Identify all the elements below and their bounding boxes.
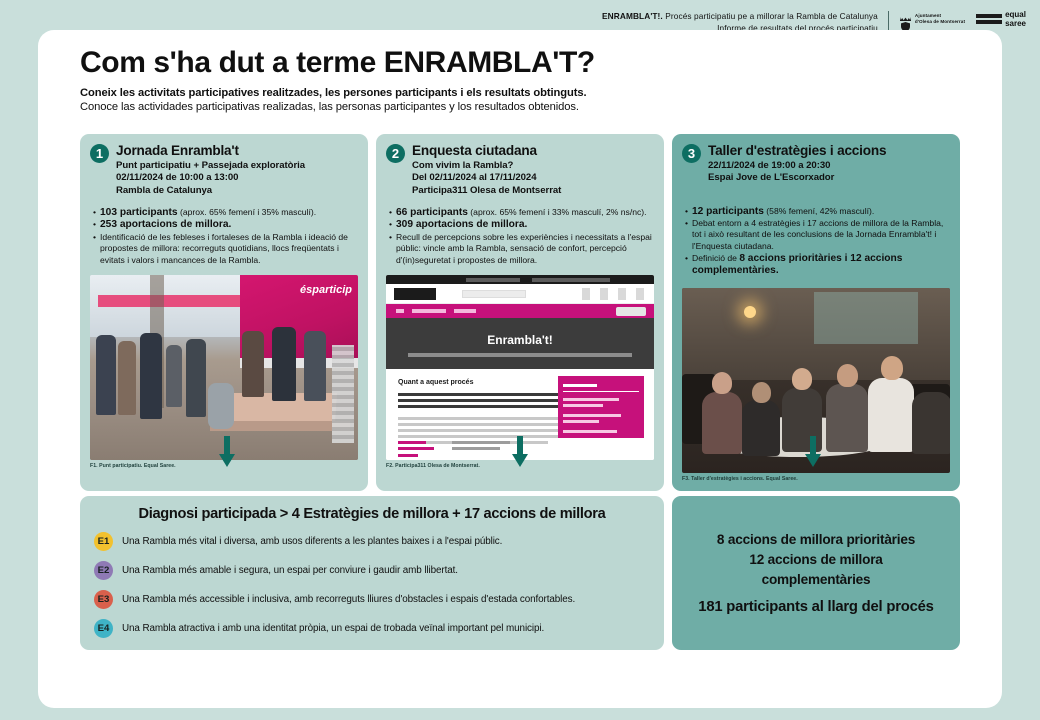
logo-equal-saree: equal saree: [976, 10, 1026, 28]
header-brand: ENRAMBLA'T!.: [602, 11, 663, 21]
list-item: •103 participants (aprox. 65% femení i 3…: [93, 207, 358, 218]
panel-2-b1-strong: 66 participants: [396, 207, 468, 218]
summary-line-1: 8 accions de millora prioritàries: [717, 530, 915, 550]
panel-1-b3-text: Identificació de les febleses i fortales…: [100, 232, 358, 266]
strategy-row-e4: E4 Una Rambla atractiva i amb una identi…: [94, 619, 650, 638]
strategy-badge-e4: E4: [94, 619, 113, 638]
arrow-down-2: [373, 436, 666, 468]
header-line-1: ENRAMBLA'T!. Procés participatiu pe a mi…: [602, 11, 878, 23]
diagnosis-panel: Diagnosi participada > 4 Estratègies de …: [80, 496, 664, 650]
panel-1-number-badge: 1: [90, 144, 109, 163]
logo-equal-line2: saree: [1005, 19, 1026, 28]
strategy-row-e1: E1 Una Rambla més vital i diversa, amb u…: [94, 532, 650, 551]
panel-2-subtitle: Com vivim la Rambla?: [412, 160, 561, 171]
subtitle-catalan: Coneix les activitats participatives rea…: [80, 87, 595, 99]
panel-2-title: Enquesta ciutadana: [412, 143, 561, 159]
panel-1-b2-strong: 253 aportacions de millora.: [100, 219, 231, 230]
panel-2-bullets: •66 participants (aprox. 65% femení i 33…: [386, 207, 654, 266]
panel-3-b2-text: Debat entorn a 4 estratègies i 17 accion…: [692, 218, 950, 252]
panel-1-b1-rest: (aprox. 65% femení i 35% masculí).: [178, 207, 317, 217]
summary-panel: 8 accions de millora prioritàries 12 acc…: [672, 496, 960, 650]
panel-3-b3-strong: 8 accions prioritàries i 12 accions comp…: [692, 253, 902, 275]
strategy-badge-e3: E3: [94, 590, 113, 609]
logo-ajuntament-text: Ajuntament d'Olesa de Montserrat: [915, 13, 965, 24]
panel-2-number-badge: 2: [386, 144, 405, 163]
list-item: •253 aportacions de millora.: [93, 219, 358, 230]
header-logos: Ajuntament d'Olesa de Montserrat equal s…: [899, 10, 1026, 28]
panel-2-header: 2 Enquesta ciutadana Com vivim la Rambla…: [386, 143, 654, 196]
crown-shield-icon: [899, 16, 912, 22]
headline-block: Com s'ha dut a terme ENRAMBLA'T? Coneix …: [80, 46, 595, 113]
subtitle-spanish: Conoce las actividades participativas re…: [80, 101, 595, 113]
panel-3-title: Taller d'estratègies i accions: [708, 143, 886, 159]
logo-ajuntament-line2: d'Olesa de Montserrat: [915, 19, 965, 24]
panel-3-location: Espai Jove de L'Escorxador: [708, 172, 886, 183]
panel-1-location: Rambla de Catalunya: [116, 185, 305, 196]
panel-3-b1-rest: (58% femení, 42% masculí).: [764, 206, 874, 216]
list-item: •309 aportacions de millora.: [389, 219, 654, 230]
strategy-row-e3: E3 Una Rambla més accessible i inclusiva…: [94, 590, 650, 609]
strategy-text-e1: Una Rambla més vital i diversa, amb usos…: [122, 536, 502, 547]
page-title: Com s'ha dut a terme ENRAMBLA'T?: [80, 46, 595, 80]
photo-punt-participatiu: ésparticip: [90, 275, 358, 460]
list-item: •Definició de 8 accions prioritàries i 1…: [685, 253, 950, 276]
logo-equal-saree-text: equal saree: [1005, 10, 1026, 28]
logo-ajuntament: Ajuntament d'Olesa de Montserrat: [899, 13, 965, 24]
results-row: Diagnosi participada > 4 Estratègies de …: [80, 496, 960, 650]
panel-2-b3-text: Recull de percepcions sobre les experièn…: [396, 232, 654, 266]
panel-1-header: 1 Jornada Enrambla't Punt participatiu +…: [90, 143, 358, 196]
strategy-text-e2: Una Rambla més amable i segura, un espai…: [122, 565, 458, 576]
panel-3-header: 3 Taller d'estratègies i accions 22/11/2…: [682, 143, 950, 184]
diagnosis-title: Diagnosi participada > 4 Estratègies de …: [94, 506, 650, 522]
bars-icon: [976, 14, 1002, 24]
list-item: •12 participants (58% femení, 42% mascul…: [685, 206, 950, 217]
list-item: •Recull de percepcions sobre les experiè…: [389, 232, 654, 266]
panel-3-number-badge: 3: [682, 144, 701, 163]
panel-3-photo-caption: F3. Taller d'estratègies i accions. Equa…: [682, 476, 950, 482]
panel-3-b1-strong: 12 participants: [692, 206, 764, 217]
list-item: •Debat entorn a 4 estratègies i 17 accio…: [685, 218, 950, 252]
panel-2-location: Participa311 Olesa de Montserrat: [412, 185, 561, 196]
strategy-text-e4: Una Rambla atractiva i amb una identitat…: [122, 623, 544, 634]
panel-2-b2-strong: 309 aportacions de millora.: [396, 219, 527, 230]
panel-2-b1-rest: (aprox. 65% femení i 33% masculí, 2% ns/…: [468, 207, 647, 217]
panel-1-bullets: •103 participants (aprox. 65% femení i 3…: [90, 207, 358, 266]
arrow-down-3: [667, 436, 960, 468]
arrow-down-1: [80, 436, 373, 468]
panel-1-b1-strong: 103 participants: [100, 207, 178, 218]
flow-arrows: [80, 436, 960, 468]
photo-participa311-website: Enrambla't! Quant a aquest procés: [386, 275, 654, 460]
strategy-badge-e1: E1: [94, 532, 113, 551]
panel-3-bullets: •12 participants (58% femení, 42% mascul…: [682, 206, 950, 276]
main-card: Com s'ha dut a terme ENRAMBLA'T? Coneix …: [38, 30, 1002, 708]
panel-1-date: 02/11/2024 de 10:00 a 13:00: [116, 172, 305, 183]
header-line-1-rest: Procés participatiu pe a millorar la Ram…: [663, 11, 878, 21]
strategy-row-e2: E2 Una Rambla més amable i segura, un es…: [94, 561, 650, 580]
summary-line-4: 181 participants al llarg del procés: [698, 597, 933, 617]
strategy-badge-e2: E2: [94, 561, 113, 580]
strategy-text-e3: Una Rambla més accessible i inclusiva, a…: [122, 594, 575, 605]
summary-line-2: 12 accions de millora: [749, 550, 882, 570]
panel-2-date: Del 02/11/2024 al 17/11/2024: [412, 172, 561, 183]
panel-1-subtitle: Punt participatiu + Passejada exploratòr…: [116, 160, 305, 171]
panel-3-date: 22/11/2024 de 19:00 a 20:30: [708, 160, 886, 171]
logo-equal-line1: equal: [1005, 10, 1026, 19]
summary-line-3: complementàries: [762, 570, 871, 590]
panel-1-title: Jornada Enrambla't: [116, 143, 305, 159]
list-item: •66 participants (aprox. 65% femení i 33…: [389, 207, 654, 218]
logo-ajuntament-line1: Ajuntament: [915, 13, 941, 18]
list-item: •Identificació de les febleses i fortale…: [93, 232, 358, 266]
